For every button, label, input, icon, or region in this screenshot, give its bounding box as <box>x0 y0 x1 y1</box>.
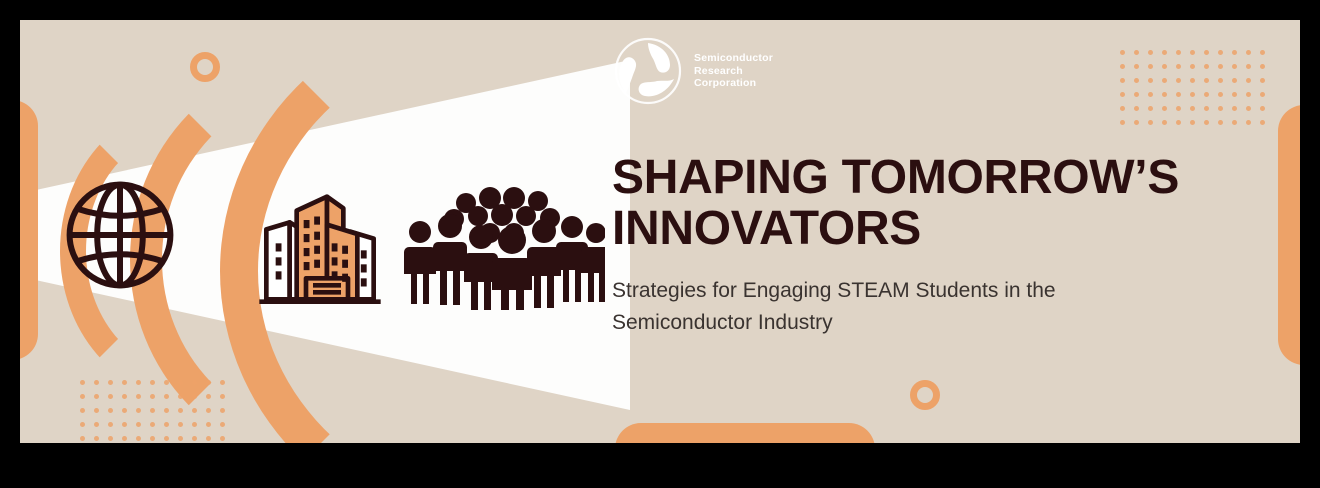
decorative-pill-bottom <box>615 423 875 443</box>
crowd-of-people-icon <box>400 185 605 310</box>
logo-line-3: Corporation <box>694 77 773 90</box>
logo-line-1: Semiconductor <box>694 52 773 65</box>
src-aperture-logo-icon <box>612 35 684 107</box>
page-subtitle: Strategies for Engaging STEAM Students i… <box>612 275 1152 340</box>
banner-frame: Semiconductor Research Corporation SHAPI… <box>0 0 1320 488</box>
banner-canvas: Semiconductor Research Corporation SHAPI… <box>20 20 1300 443</box>
logo-line-2: Research <box>694 65 773 78</box>
src-logo: Semiconductor Research Corporation <box>612 32 1272 110</box>
decorative-ring-bottom-center <box>910 380 940 410</box>
content-block: Semiconductor Research Corporation SHAPI… <box>612 32 1272 340</box>
decorative-ring-top-left <box>190 52 220 82</box>
decorative-pill-right <box>1278 105 1300 365</box>
office-buildings-icon <box>250 178 390 318</box>
decorative-pill-left <box>20 100 38 360</box>
src-logo-wordmark: Semiconductor Research Corporation <box>694 52 773 90</box>
page-title: SHAPING TOMORROW’S INNOVATORS <box>612 152 1252 255</box>
globe-icon <box>60 175 180 295</box>
